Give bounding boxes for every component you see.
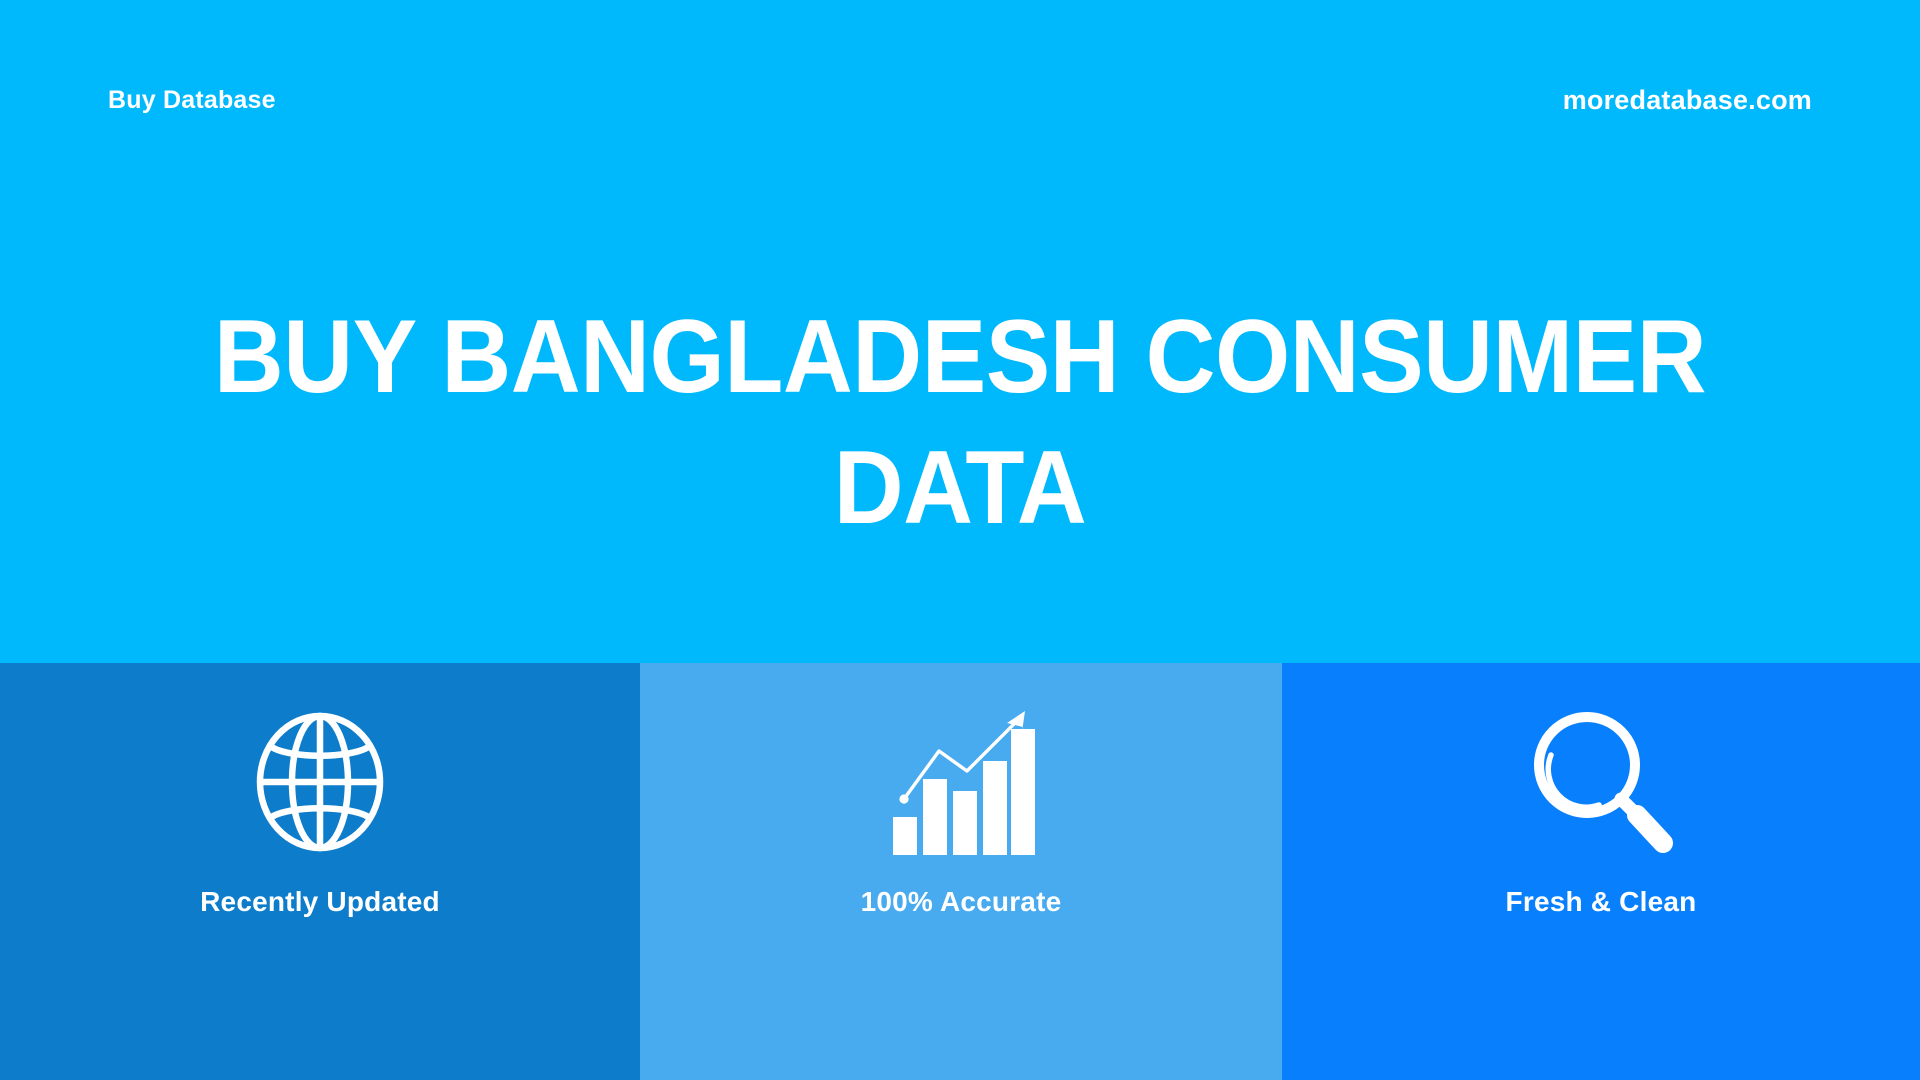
feature-label-100-accurate: 100% Accurate bbox=[861, 886, 1062, 918]
page-title-line-1: BUY BANGLADESH CONSUMER bbox=[123, 292, 1797, 423]
hero-banner: Buy Database moredatabase.com BUY BANGLA… bbox=[0, 0, 1920, 663]
brand-name: Buy Database bbox=[108, 86, 276, 115]
page-title-line-2: DATA bbox=[123, 423, 1797, 554]
magnifying-glass-icon bbox=[1521, 706, 1681, 858]
website-url: moredatabase.com bbox=[1563, 85, 1812, 116]
feature-label-recently-updated: Recently Updated bbox=[200, 886, 440, 918]
feature-panel-fresh-clean: Fresh & Clean bbox=[1282, 663, 1920, 1080]
globe-icon bbox=[240, 706, 400, 858]
feature-panel-recently-updated: Recently Updated bbox=[0, 663, 640, 1080]
feature-label-fresh-clean: Fresh & Clean bbox=[1506, 886, 1697, 918]
feature-panel-100-accurate: 100% Accurate bbox=[640, 663, 1282, 1080]
banner-header-row: Buy Database moredatabase.com bbox=[0, 0, 1920, 200]
growth-bar-chart-icon bbox=[881, 706, 1041, 858]
feature-panels: Recently Updated 100% Accurate bbox=[0, 663, 1920, 1080]
headline-block: BUY BANGLADESH CONSUMER DATA bbox=[0, 292, 1920, 554]
